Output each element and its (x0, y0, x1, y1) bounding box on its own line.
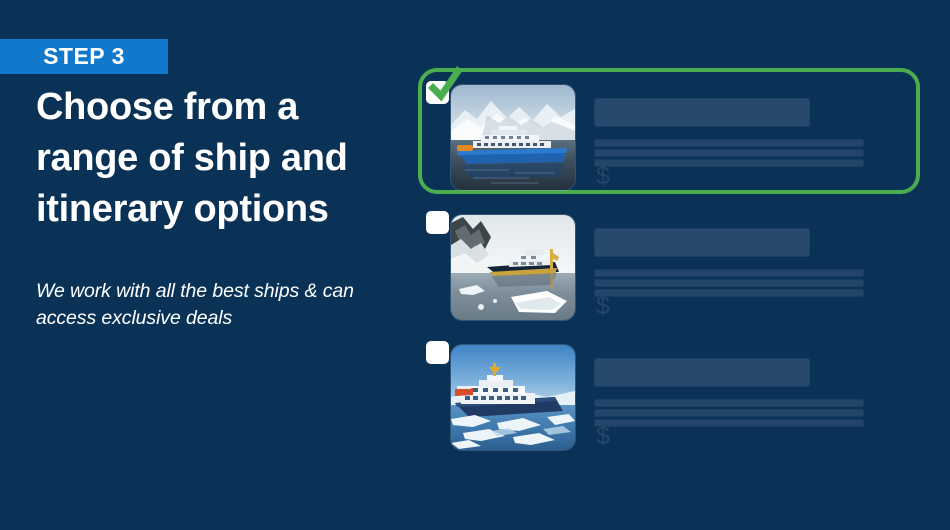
placeholder-line (595, 150, 863, 156)
placeholder-line (595, 400, 863, 406)
placeholder-text-lines (595, 140, 863, 170)
step-badge: STEP 3 (0, 39, 168, 74)
placeholder-line (595, 270, 863, 276)
list-item[interactable]: $ (418, 328, 920, 454)
placeholder-text-lines (595, 270, 863, 300)
step-badge-label: STEP 3 (43, 45, 125, 68)
placeholder-title-bar (595, 99, 809, 126)
ship-thumbnail (451, 85, 575, 190)
subtitle-text: We work with all the best ships & can ac… (36, 278, 416, 332)
option-checkbox[interactable] (426, 341, 449, 364)
checkmark-icon (428, 69, 462, 103)
option-checkbox[interactable] (426, 81, 449, 104)
price-glyph: $ (596, 294, 610, 319)
option-checkbox[interactable] (426, 211, 449, 234)
placeholder-line (595, 140, 863, 146)
placeholder-text-lines (595, 400, 863, 430)
placeholder-line (595, 290, 863, 296)
placeholder-title-bar (595, 359, 809, 386)
price-glyph: $ (596, 164, 610, 189)
placeholder-line (595, 410, 863, 416)
placeholder-title-bar (595, 229, 809, 256)
price-glyph: $ (596, 424, 610, 449)
placeholder-line (595, 160, 863, 166)
placeholder-line (595, 420, 863, 426)
slide-canvas: STEP 3 Choose from a range of ship and i… (0, 0, 950, 530)
placeholder-line (595, 280, 863, 286)
ship-option-list: $ (418, 60, 938, 460)
ship-thumbnail (451, 215, 575, 320)
left-text-column: STEP 3 Choose from a range of ship and i… (0, 0, 420, 530)
page-title: Choose from a range of ship and itinerar… (36, 82, 396, 235)
list-item[interactable]: $ (418, 68, 920, 194)
list-item[interactable]: $ (418, 198, 920, 324)
ship-thumbnail (451, 345, 575, 450)
